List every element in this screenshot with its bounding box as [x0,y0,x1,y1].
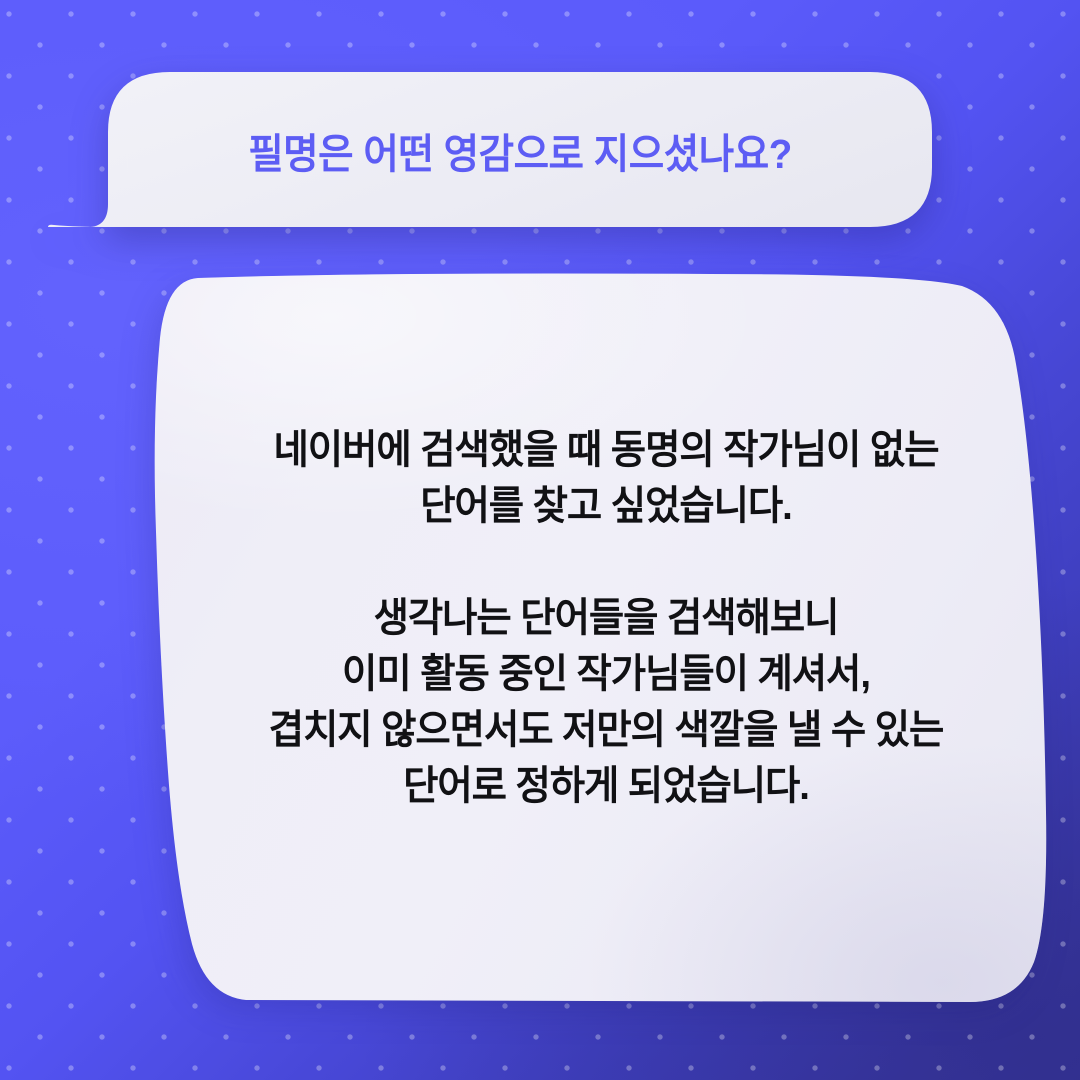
answer-line: 생각나는 단어들을 검색해보니 [197,590,1015,646]
answer-line: 단어로 정하게 되었습니다. [197,758,1015,814]
answer-line: 이미 활동 중인 작가님들이 계셔서, [197,646,1015,702]
answer-body: 네이버에 검색했을 때 동명의 작가님이 없는 단어를 찾고 싶었습니다. 생각… [197,422,1015,814]
card-canvas: 필명은 어떤 영감으로 지으셨나요? 네이버에 검색했을 때 동명의 작가님이 … [0,0,1080,1080]
answer-paragraph-2: 생각나는 단어들을 검색해보니 이미 활동 중인 작가님들이 계셔서, 겹치지 … [197,590,1015,814]
paragraph-spacer [197,534,1015,590]
answer-line: 네이버에 검색했을 때 동명의 작가님이 없는 [197,422,1015,478]
answer-line: 겹치지 않으면서도 저만의 색깔을 낼 수 있는 [197,702,1015,758]
question-bubble: 필명은 어떤 영감으로 지으셨나요? [48,72,932,227]
question-text: 필명은 어떤 영감으로 지으셨나요? [133,72,908,227]
answer-paragraph-1: 네이버에 검색했을 때 동명의 작가님이 없는 단어를 찾고 싶었습니다. [197,422,1015,534]
answer-line: 단어를 찾고 싶었습니다. [197,478,1015,534]
answer-card: 네이버에 검색했을 때 동명의 작가님이 없는 단어를 찾고 싶었습니다. 생각… [150,272,1050,1012]
